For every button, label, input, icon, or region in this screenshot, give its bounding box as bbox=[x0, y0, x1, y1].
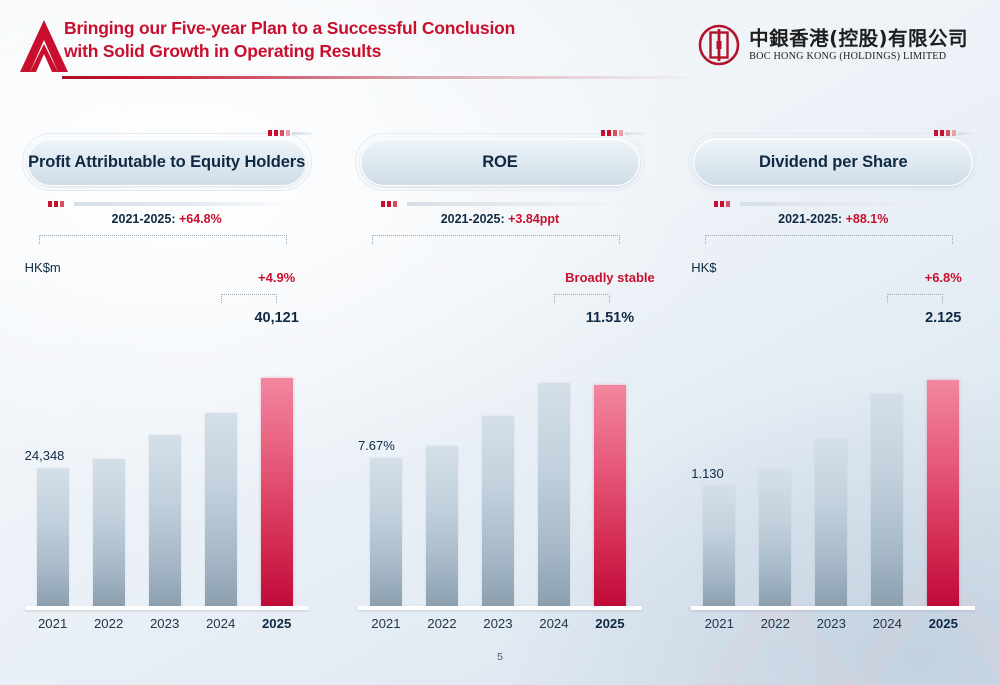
x-label-2025: 2025 bbox=[587, 616, 633, 631]
yoy-growth-label: +6.8% bbox=[868, 270, 1000, 285]
range-bracket-wide bbox=[372, 235, 620, 244]
metric-panel-2: ROE2021-2025: +3.84pptBroadly stable11.5… bbox=[333, 128, 666, 644]
x-label-2021: 2021 bbox=[30, 616, 76, 631]
bar-2021[interactable] bbox=[703, 486, 735, 606]
panel-dash-marks-top bbox=[268, 130, 290, 136]
page-title-line1: Bringing our Five-year Plan to a Success… bbox=[64, 17, 664, 40]
bar-2021[interactable] bbox=[370, 458, 402, 606]
yoy-growth-label: +4.9% bbox=[202, 270, 352, 285]
metric-panel-1: Profit Attributable to Equity Holders202… bbox=[0, 128, 333, 644]
x-label-2023: 2023 bbox=[808, 616, 854, 631]
last-value-label: 11.51% bbox=[550, 310, 670, 326]
bar-2023[interactable] bbox=[149, 435, 181, 606]
x-label-2022: 2022 bbox=[419, 616, 465, 631]
x-axis-labels: 20212022202320242025 bbox=[17, 616, 317, 638]
range-period: 2021-2025: bbox=[441, 212, 508, 226]
plot-area bbox=[17, 356, 317, 606]
panel-title: ROE bbox=[482, 153, 517, 172]
yoy-bracket bbox=[554, 294, 610, 303]
page-title: Bringing our Five-year Plan to a Success… bbox=[64, 17, 664, 63]
bar-2023[interactable] bbox=[815, 439, 847, 606]
panel-title-pill[interactable]: Profit Attributable to Equity Holders bbox=[27, 138, 307, 186]
yoy-bracket bbox=[887, 294, 943, 303]
corporate-logo: 中銀香港(控股)有限公司 BOC HONG KONG (HOLDINGS) LI… bbox=[698, 24, 968, 66]
metrics-panel-row: Profit Attributable to Equity Holders202… bbox=[0, 128, 1000, 644]
bar-2023[interactable] bbox=[482, 416, 514, 606]
red-chevron-mark-icon bbox=[18, 18, 70, 74]
x-label-2023: 2023 bbox=[475, 616, 521, 631]
bar-2022[interactable] bbox=[93, 459, 125, 606]
panel-title-pill[interactable]: Dividend per Share bbox=[693, 138, 973, 186]
page-title-line2: with Solid Growth in Operating Results bbox=[64, 40, 664, 63]
first-value-label: 1.130 bbox=[691, 466, 724, 481]
axis-baseline bbox=[25, 606, 309, 610]
x-label-2022: 2022 bbox=[752, 616, 798, 631]
bar-2025[interactable] bbox=[927, 380, 959, 606]
x-label-2024: 2024 bbox=[198, 616, 244, 631]
x-axis-labels: 20212022202320242025 bbox=[350, 616, 650, 638]
yoy-growth-label: Broadly stable bbox=[535, 270, 685, 285]
range-growth-label: 2021-2025: +64.8% bbox=[17, 212, 317, 226]
page-number: 5 bbox=[0, 651, 1000, 663]
bar-2021[interactable] bbox=[37, 468, 69, 606]
range-growth-label: 2021-2025: +3.84ppt bbox=[350, 212, 650, 226]
panel-header: Profit Attributable to Equity Holders bbox=[22, 128, 312, 204]
panel-header: Dividend per Share bbox=[688, 128, 978, 204]
company-name-cn: 中銀香港(控股)有限公司 bbox=[749, 28, 968, 50]
panel-rule-top bbox=[958, 132, 978, 135]
bar-2025[interactable] bbox=[594, 385, 626, 606]
x-label-2023: 2023 bbox=[142, 616, 188, 631]
last-value-label: 40,121 bbox=[217, 310, 337, 326]
x-label-2021: 2021 bbox=[363, 616, 409, 631]
axis-baseline bbox=[691, 606, 975, 610]
range-value: +3.84ppt bbox=[508, 212, 559, 226]
bar-2024[interactable] bbox=[538, 383, 570, 606]
slide-root: Bringing our Five-year Plan to a Success… bbox=[0, 0, 1000, 685]
unit-label: HK$m bbox=[25, 260, 61, 275]
panel-dash-marks-top bbox=[934, 130, 956, 136]
bar-2022[interactable] bbox=[426, 446, 458, 606]
range-bracket-wide bbox=[705, 235, 953, 244]
plot-area bbox=[683, 356, 983, 606]
range-period: 2021-2025: bbox=[778, 212, 845, 226]
panel-rule-top bbox=[292, 132, 312, 135]
panel-title: Dividend per Share bbox=[759, 153, 908, 172]
first-value-label: 7.67% bbox=[358, 438, 395, 453]
x-label-2022: 2022 bbox=[86, 616, 132, 631]
range-bracket-wide bbox=[39, 235, 287, 244]
bar-2022[interactable] bbox=[759, 470, 791, 606]
panel-title: Profit Attributable to Equity Holders bbox=[28, 153, 305, 172]
panel-dash-marks-top bbox=[601, 130, 623, 136]
boc-logo-icon bbox=[698, 24, 740, 66]
panel-rule-top bbox=[625, 132, 645, 135]
range-growth-label: 2021-2025: +88.1% bbox=[683, 212, 983, 226]
bar-2024[interactable] bbox=[871, 394, 903, 606]
x-label-2024: 2024 bbox=[864, 616, 910, 631]
bar-2025[interactable] bbox=[261, 378, 293, 606]
range-value: +64.8% bbox=[179, 212, 222, 226]
panel-title-pill[interactable]: ROE bbox=[360, 138, 640, 186]
x-label-2024: 2024 bbox=[531, 616, 577, 631]
metric-panel-3: Dividend per Share2021-2025: +88.1%HK$+6… bbox=[667, 128, 1000, 644]
panel-header: ROE bbox=[355, 128, 645, 204]
x-label-2025: 2025 bbox=[254, 616, 300, 631]
bar-2024[interactable] bbox=[205, 413, 237, 606]
yoy-bracket bbox=[221, 294, 277, 303]
first-value-label: 24,348 bbox=[25, 448, 65, 463]
x-axis-labels: 20212022202320242025 bbox=[683, 616, 983, 638]
range-period: 2021-2025: bbox=[112, 212, 179, 226]
title-underline-rule bbox=[62, 76, 702, 79]
company-name-en: BOC HONG KONG (HOLDINGS) LIMITED bbox=[749, 51, 968, 63]
unit-label: HK$ bbox=[691, 260, 716, 275]
x-label-2025: 2025 bbox=[920, 616, 966, 631]
last-value-label: 2.125 bbox=[883, 310, 1000, 326]
range-value: +88.1% bbox=[846, 212, 889, 226]
x-label-2021: 2021 bbox=[696, 616, 742, 631]
bar-chart: 2021-2025: +3.84pptBroadly stable11.51%7… bbox=[350, 204, 650, 644]
plot-area bbox=[350, 356, 650, 606]
slide-header: Bringing our Five-year Plan to a Success… bbox=[0, 0, 1000, 92]
axis-baseline bbox=[358, 606, 642, 610]
bar-chart: 2021-2025: +64.8%HK$m+4.9%40,12124,34820… bbox=[17, 204, 317, 644]
bar-chart: 2021-2025: +88.1%HK$+6.8%2.1251.13020212… bbox=[683, 204, 983, 644]
